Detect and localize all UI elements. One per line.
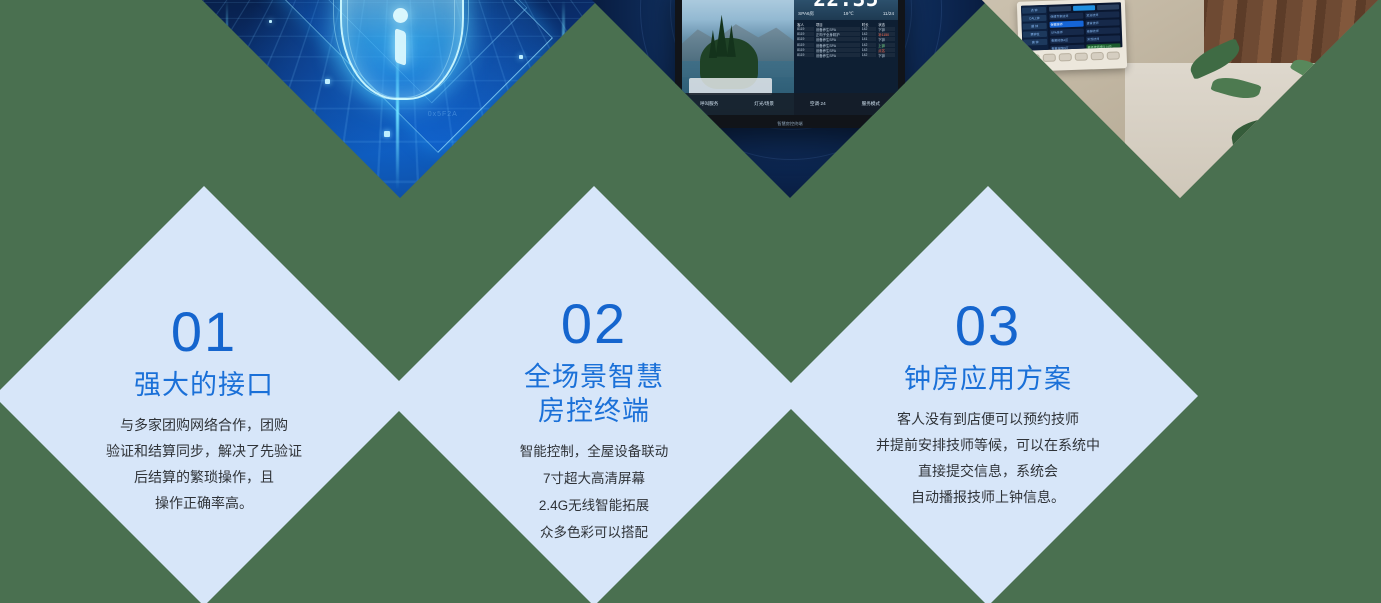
feature-card-1[interactable]: 01 强大的接口 与多家团购网络合作，团购 验证和结算同步，解决了先验证 后结算… <box>0 186 414 603</box>
card-body: 与多家团购网络合作，团购 验证和结算同步，解决了先验证 后结算的繁琐操作，且 操… <box>106 412 302 516</box>
panel-hard-button <box>1058 53 1071 61</box>
card-body-line: 2.4G无线智能拓展 <box>520 492 669 519</box>
th-duration: 时长 <box>862 22 877 26</box>
card-title-line: 房控终端 <box>524 394 664 428</box>
clock-widget: 22:35 SPA6房 19℃ 11/24 <box>794 0 898 20</box>
feature-card-2[interactable]: 02 全场景智慧 房控终端 智能控制，全屋设备联动 7寸超大高清屏幕 2.4G无… <box>384 186 804 603</box>
panel-list-item-selected: 保健技师 <box>1049 21 1083 28</box>
card-body-line: 自动播报技师上钟信息。 <box>876 484 1100 510</box>
table-row: 8119正构子全身精护142补1150 <box>797 32 895 36</box>
clock-time: 22:35 <box>798 0 894 10</box>
card-number: 01 <box>171 304 237 360</box>
panel-hard-button <box>1042 54 1055 62</box>
table-row: 8119设备养生SPA142下钟 <box>797 53 895 57</box>
btn-light-scene: 灯光/场景 <box>754 101 774 107</box>
th-status: 状态 <box>878 22 895 26</box>
panel-left-item: CALL钟 <box>1022 15 1046 22</box>
card-number: 02 <box>561 296 627 352</box>
room-label: SPA6房 <box>798 11 814 17</box>
room-control-tablet: CSIZBO 22:35 <box>675 0 905 128</box>
panel-hard-button <box>1090 52 1103 60</box>
panel-list-item: 香薰按摩A区 <box>1050 37 1084 44</box>
card-body-line: 直接提交信息，系统会 <box>876 458 1100 484</box>
card-body: 智能控制，全屋设备联动 7寸超大高清屏幕 2.4G无线智能拓展 众多色彩可以搭配 <box>520 438 669 546</box>
btn-aircon: 空调·24 <box>810 101 826 107</box>
panel-list-item: 采耳技师 <box>1086 35 1120 42</box>
date-label: 11/24 <box>883 11 894 17</box>
th-project: 项目 <box>816 22 860 26</box>
table-header-row: 客人 项目 时长 状态 <box>797 22 895 26</box>
card-title: 强大的接口 <box>134 368 274 402</box>
panel-left-item: 直 钟 <box>1023 39 1047 46</box>
device-footer: 智慧房控终端 <box>675 121 905 127</box>
card-body: 客人没有到店便可以预约技师 并提前安排技师等候，可以在系统中 直接提交信息，系统… <box>876 406 1100 510</box>
card-body-line: 众多色彩可以搭配 <box>520 519 669 546</box>
th-guest: 客人 <box>797 22 814 26</box>
card-image-room: 点 钟 CALL钟 圈 钟 换钟位 直 钟 <box>982 0 1378 198</box>
panel-list-item: 修脚技师 <box>1085 27 1119 34</box>
wall-control-panel: 点 钟 CALL钟 圈 钟 换钟位 直 钟 <box>1016 0 1126 72</box>
btn-service-mode: 服务模式 <box>862 101 880 107</box>
card-title: 全场景智慧 房控终端 <box>524 360 664 428</box>
card-body-line: 验证和结算同步，解决了先验证 <box>106 438 302 464</box>
panel-hard-button <box>1074 53 1087 61</box>
panel-left-item: 点 钟 <box>1022 7 1046 14</box>
card-image-shield: 01101001 10110 0x5F2A DATA <box>202 0 598 198</box>
panel-tab <box>1096 4 1118 10</box>
table-row: 8119设备养生SPA142点名 <box>797 48 895 52</box>
card-body-line: 客人没有到店便可以预约技师 <box>876 406 1100 432</box>
panel-tab-selected <box>1072 5 1094 11</box>
table-row: 8119设备养生SPA142下钟 <box>797 27 895 31</box>
feature-card-3[interactable]: 03 钟房应用方案 客人没有到店便可以预约技师 并提前安排技师等候，可以在系统中… <box>778 186 1198 603</box>
temperature: 19℃ <box>843 11 853 17</box>
card-body-line: 与多家团购网络合作，团购 <box>106 412 302 438</box>
card-body-line: 操作正确率高。 <box>106 490 302 516</box>
panel-list-item: 足浴技师 <box>1085 11 1119 18</box>
btn-call-service: 呼叫服务 <box>700 101 718 107</box>
infographic-stage: 01101001 10110 0x5F2A DATA CSIZBO <box>0 0 1381 603</box>
table-row: 8119设备养生SPA141下钟 <box>797 37 895 41</box>
card-body-line: 7寸超大高清屏幕 <box>520 465 669 492</box>
card-title-line: 全场景智慧 <box>524 360 664 394</box>
table-row: 8119设备养生SPA142上钟 <box>797 43 895 47</box>
panel-list-item: 保健专家技师 <box>1049 13 1083 20</box>
card-number: 03 <box>955 298 1021 354</box>
panel-left-item: 圈 钟 <box>1022 23 1046 30</box>
panel-hard-button <box>1026 54 1039 62</box>
panel-left-item: 换钟位 <box>1022 31 1046 38</box>
panel-hard-button <box>1106 52 1119 60</box>
device-bottom-bar: 呼叫服务 灯光/场景 空调·24 服务模式 <box>682 93 898 115</box>
panel-tab <box>1049 6 1071 12</box>
panel-list-item: 搓背技师 <box>1085 19 1119 26</box>
card-body-line: 后结算的繁琐操作，且 <box>106 464 302 490</box>
panel-list-item: SPA技师 <box>1049 29 1083 36</box>
card-image-tablet: CSIZBO 22:35 <box>592 0 988 198</box>
card-title: 钟房应用方案 <box>904 362 1072 396</box>
card-body-line: 并提前安排技师等候，可以在系统中 <box>876 432 1100 458</box>
card-body-line: 智能控制，全屋设备联动 <box>520 438 669 465</box>
